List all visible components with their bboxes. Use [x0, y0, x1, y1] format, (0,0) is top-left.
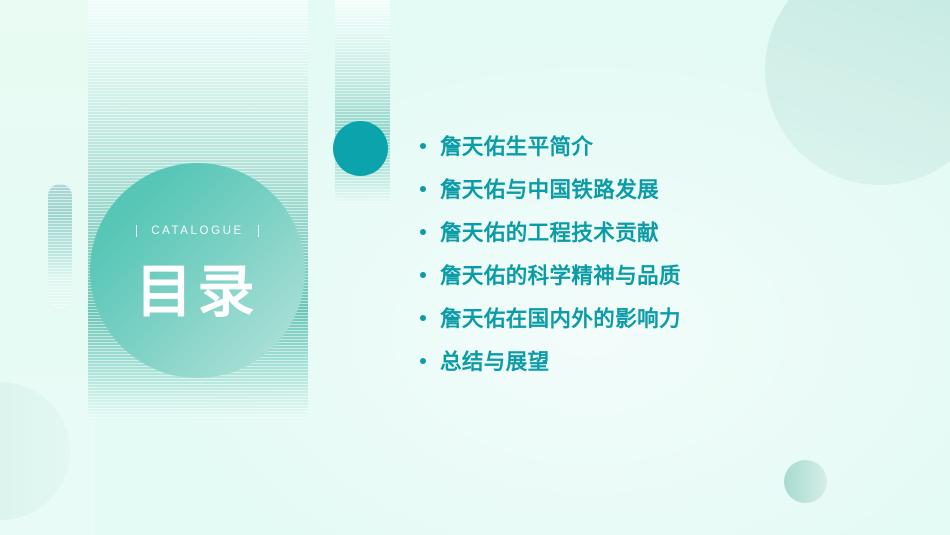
catalogue-eyebrow-group: CATALOGUE [136, 225, 259, 237]
list-item-label: 詹天佑生平简介 [440, 130, 593, 161]
list-item[interactable]: 詹天佑在国内外的影响力 [420, 296, 890, 339]
bullet-dot-icon [420, 358, 426, 364]
bullet-dot-icon [420, 143, 426, 149]
catalogue-eyebrow-text: CATALOGUE [151, 225, 244, 237]
list-item-label: 詹天佑的工程技术贡献 [440, 216, 659, 247]
catalogue-title: 目录 [136, 264, 260, 321]
stripe-texture [48, 184, 72, 308]
tick-mark-right-icon [258, 225, 259, 237]
list-item-label: 詹天佑与中国铁路发展 [440, 173, 659, 204]
decorative-circle-bottom-right [784, 460, 827, 503]
table-of-contents-list: 詹天佑生平简介 詹天佑与中国铁路发展 詹天佑的工程技术贡献 詹天佑的科学精神与品… [420, 124, 890, 382]
accent-dot-circle [333, 121, 388, 176]
list-item[interactable]: 詹天佑的科学精神与品质 [420, 253, 890, 296]
list-item-label: 总结与展望 [440, 345, 550, 376]
list-item[interactable]: 詹天佑生平简介 [420, 124, 890, 167]
bullet-dot-icon [420, 186, 426, 192]
catalogue-circle: CATALOGUE 目录 [90, 163, 305, 378]
list-item-label: 詹天佑的科学精神与品质 [440, 259, 681, 290]
bullet-dot-icon [420, 315, 426, 321]
list-item[interactable]: 詹天佑与中国铁路发展 [420, 167, 890, 210]
catalogue-slide: CATALOGUE 目录 詹天佑生平简介 詹天佑与中国铁路发展 詹天佑的工程技术… [0, 0, 950, 535]
decorative-capsule [48, 184, 72, 308]
bullet-dot-icon [420, 272, 426, 278]
list-item[interactable]: 詹天佑的工程技术贡献 [420, 210, 890, 253]
tick-mark-left-icon [136, 225, 137, 237]
list-item-label: 詹天佑在国内外的影响力 [440, 302, 681, 333]
bullet-dot-icon [420, 229, 426, 235]
list-item[interactable]: 总结与展望 [420, 339, 890, 382]
